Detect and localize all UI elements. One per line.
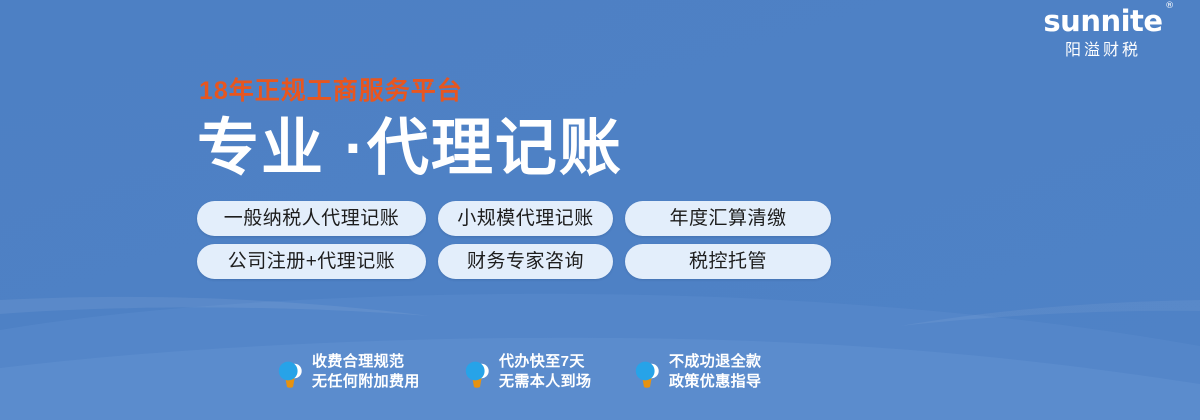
feature-item-pricing: 收费合理规范 无任何附加费用: [276, 352, 463, 392]
moon-cup-icon: [633, 357, 660, 389]
feature-line-2: 无需本人到场: [499, 372, 591, 392]
feature-text-guarantee: 不成功退全款 政策优惠指导: [669, 352, 761, 392]
service-pill-grid: 一般纳税人代理记账 小规模代理记账 年度汇算清缴 公司注册+代理记账 财务专家咨…: [197, 201, 831, 279]
service-pill-expert-consulting[interactable]: 财务专家咨询: [438, 244, 613, 279]
service-pill-row-1: 一般纳税人代理记账 小规模代理记账 年度汇算清缴: [197, 201, 831, 236]
service-pill-row-2: 公司注册+代理记账 财务专家咨询 税控托管: [197, 244, 831, 279]
feature-text-speed: 代办快至7天 无需本人到场: [499, 352, 591, 392]
logo-chinese-name: 阳溢财税: [1028, 41, 1178, 61]
moon-cup-icon: [463, 357, 490, 389]
feature-line-1: 不成功退全款: [669, 352, 761, 372]
service-pill-company-registration[interactable]: 公司注册+代理记账: [197, 244, 426, 279]
feature-item-guarantee: 不成功退全款 政策优惠指导: [633, 352, 813, 392]
service-pill-general-taxpayer[interactable]: 一般纳税人代理记账: [197, 201, 426, 236]
feature-line-1: 代办快至7天: [499, 352, 591, 372]
headline-kicker: 18年正规工商服务平台: [199, 76, 463, 106]
service-pill-tax-control-hosting[interactable]: 税控托管: [625, 244, 831, 279]
page-title: 专业 ·代理记账: [197, 112, 623, 186]
logo-wordmark-text: sunnite: [1043, 4, 1162, 38]
promo-banner: sunnite ® 阳溢财税 18年正规工商服务平台 专业 ·代理记账 一般纳税…: [0, 0, 1200, 420]
brand-logo[interactable]: sunnite ® 阳溢财税: [1028, 4, 1178, 61]
feature-item-speed: 代办快至7天 无需本人到场: [463, 352, 633, 392]
service-pill-small-scale[interactable]: 小规模代理记账: [438, 201, 613, 236]
logo-wordmark: sunnite ®: [1043, 4, 1162, 38]
feature-line-2: 无任何附加费用: [312, 372, 420, 392]
feature-text-pricing: 收费合理规范 无任何附加费用: [312, 352, 420, 392]
moon-cup-icon: [276, 357, 303, 389]
service-pill-annual-settlement[interactable]: 年度汇算清缴: [625, 201, 831, 236]
feature-line-2: 政策优惠指导: [669, 372, 761, 392]
registered-trademark-icon: ®: [1165, 2, 1174, 11]
feature-line-1: 收费合理规范: [312, 352, 420, 372]
feature-strip: 收费合理规范 无任何附加费用 代办快至7天 无需本人到场 不成功退全款: [276, 352, 813, 392]
